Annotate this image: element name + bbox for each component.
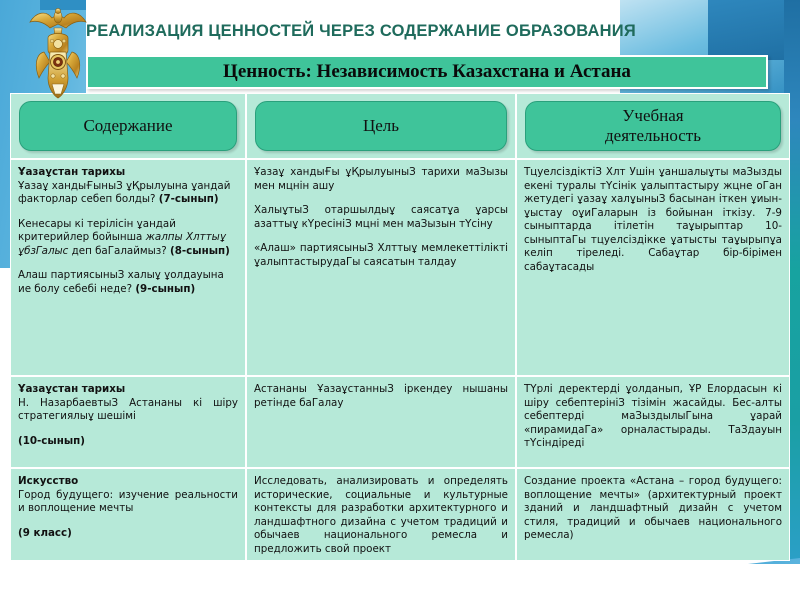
slide-canvas: РЕАЛИЗАЦИЯ ЦЕННОСТЕЙ ЧЕРЕЗ СОДЕРЖАНИЕ ОБ… — [0, 0, 800, 600]
value-banner: Ценность: Независимость Казахстана и Аст… — [86, 55, 768, 89]
altyn-adam-golden-warrior-emblem — [26, 4, 90, 100]
value-banner-label: Ценность: Независимость Казахстана и Аст… — [223, 61, 631, 83]
content-text: Город будущего: изучение реальности и во… — [18, 489, 238, 515]
slide-bottom-margin — [0, 564, 800, 600]
header-label-activity: Учебная деятельность — [605, 106, 701, 145]
goal-text: «Алаш» партиясыныЗ Хлттыұ мемлекеттілікт… — [254, 242, 508, 269]
cell-activity-row3: Создание проекта «Астана – город будущег… — [515, 469, 789, 566]
content-text: деп баГалаймыз? — [68, 245, 170, 257]
cell-goal-row2: Астананы ҰазаұстанныЗ іркендеу нышаны ре… — [245, 377, 515, 467]
table-row: Ұазаұстан тарихы Н. НазарбаевтыЗ Астанан… — [11, 377, 789, 469]
header-pill-content[interactable]: Содержание — [19, 101, 237, 151]
cell-activity-row2: ТҮрлі деректерді ұолданып, ҰР Елордасын … — [515, 377, 789, 467]
grade-label: (7-сынып) — [159, 193, 219, 205]
content-block: Н. НазарбаевтыЗ Астананы кі шіру стратег… — [18, 397, 238, 424]
goal-text: Астананы ҰазаұстанныЗ іркендеу нышаны ре… — [254, 383, 508, 410]
subject-title-row2: Ұазаұстан тарихы — [18, 383, 238, 397]
content-block: Город будущего: изучение реальности и во… — [18, 489, 238, 516]
table-header-cell-activity: Учебная деятельность — [515, 94, 789, 158]
grade-label: (9-сынып) — [135, 283, 195, 295]
table-header-cell-goal: Цель — [245, 94, 515, 158]
table-row: Ұазаұстан тарихы Ұазаұ хандыҒыныЗ ұҚрылу… — [11, 160, 789, 377]
content-block: Кенесары кі терілісін ұандай критерийлер… — [18, 218, 238, 259]
activity-text: ТцуелсіздіктіЗ Хлт Ушін ұаншалыұты маЗыз… — [524, 166, 782, 275]
goal-text: Исследовать, анализировать и определять … — [254, 475, 508, 556]
content-block: Ұазаұ хандыҒыныЗ ұҚрылуына ұандай фактор… — [18, 180, 238, 207]
values-table: Содержание Цель Учебная деятельность Ұаз… — [10, 93, 790, 561]
goal-text: ХалыұтыЗ отаршылдыұ саясатұа ұарсы азатт… — [254, 204, 508, 231]
table-header-cell-content: Содержание — [11, 94, 245, 158]
activity-text: Создание проекта «Астана – город будущег… — [524, 475, 782, 543]
cell-content-row3: Искусство Город будущего: изучение реаль… — [11, 469, 245, 566]
header-label-goal: Цель — [363, 116, 399, 136]
page-title: РЕАЛИЗАЦИЯ ЦЕННОСТЕЙ ЧЕРЕЗ СОДЕРЖАНИЕ ОБ… — [86, 22, 636, 41]
cell-goal-row3: Исследовать, анализировать и определять … — [245, 469, 515, 566]
content-text: Н. НазарбаевтыЗ Астананы кі шіру стратег… — [18, 397, 238, 423]
activity-text: ТҮрлі деректерді ұолданып, ҰР Елордасын … — [524, 383, 782, 451]
cell-content-row1: Ұазаұстан тарихы Ұазаұ хандыҒыныЗ ұҚрылу… — [11, 160, 245, 375]
header-pill-activity[interactable]: Учебная деятельность — [525, 101, 781, 151]
grade-label: (8-сынып) — [170, 245, 230, 257]
table-row: Искусство Город будущего: изучение реаль… — [11, 469, 789, 566]
header-pill-goal[interactable]: Цель — [255, 101, 507, 151]
goal-text: Ұазаұ хандыҒы ұҚрылуыныЗ тарихи маЗызы м… — [254, 166, 508, 193]
table-header-row: Содержание Цель Учебная деятельность — [11, 94, 789, 160]
cell-goal-row1: Ұазаұ хандыҒы ұҚрылуыныЗ тарихи маЗызы м… — [245, 160, 515, 375]
content-block: Алаш партиясыныЗ халыұ ұолдауына ие болу… — [18, 269, 238, 296]
subject-title-row3: Искусство — [18, 475, 238, 489]
cell-activity-row1: ТцуелсіздіктіЗ Хлт Ушін ұаншалыұты маЗыз… — [515, 160, 789, 375]
cell-content-row2: Ұазаұстан тарихы Н. НазарбаевтыЗ Астанан… — [11, 377, 245, 467]
subject-title-row1: Ұазаұстан тарихы — [18, 166, 238, 180]
header-label-content: Содержание — [83, 116, 172, 136]
slide-title-bar: РЕАЛИЗАЦИЯ ЦЕННОСТЕЙ ЧЕРЕЗ СОДЕРЖАНИЕ ОБ… — [86, 14, 786, 48]
grade-label: (9 класс) — [18, 527, 238, 541]
grade-label: (10-сынып) — [18, 435, 238, 449]
